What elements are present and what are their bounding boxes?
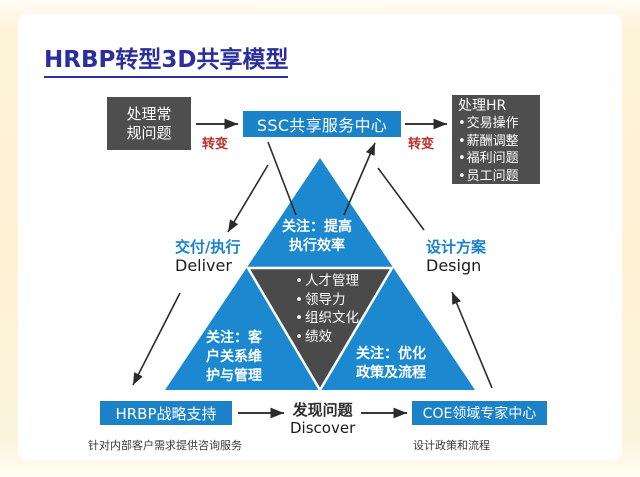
convert-label-left: 转变	[202, 133, 228, 152]
triangle-bl-line2: 户关系维	[206, 348, 262, 367]
coe-expert-center-box[interactable]: COE领域专家中心	[412, 401, 547, 425]
deliver-label-en: Deliver	[175, 256, 240, 275]
deliver-label: 交付/执行 Deliver	[175, 238, 240, 275]
discover-label: 发现问题 Discover	[290, 401, 355, 438]
list-item: 组织文化	[295, 309, 359, 328]
page-title: HRBP转型3D共享模型	[44, 40, 288, 78]
deliver-label-cn: 交付/执行	[175, 238, 240, 256]
triangle-top-text: 关注：提高 执行效率	[282, 218, 352, 256]
triangle-center-list: 人才管理 领导力 组织文化 绩效	[295, 272, 359, 346]
process-hr-box[interactable]: 处理HR 交易操作 薪酬调整 福利问题 员工问题	[452, 95, 540, 184]
triangle-top-line1: 关注：提高	[282, 218, 352, 237]
list-item: 交易操作	[458, 115, 536, 133]
list-item: 绩效	[295, 328, 359, 347]
arrow-ssc-to-deliver	[228, 165, 268, 232]
list-item: 领导力	[295, 291, 359, 310]
slide-canvas: HRBP转型3D共享模型 处理常 规问题 转变 SSC共享服务中心 转变 处理H…	[0, 0, 640, 477]
triangle-bl-line1: 关注：客	[206, 329, 262, 348]
triangle-bl-line3: 护与管理	[206, 367, 262, 386]
convert-label-right: 转变	[408, 133, 434, 152]
design-label-en: Design	[426, 256, 486, 275]
arrow-apex-to-ssc-left	[268, 142, 296, 215]
discover-label-en: Discover	[290, 419, 355, 438]
design-label-cn: 设计方案	[426, 238, 486, 256]
triangle-bottom-left-text: 关注：客 户关系维 护与管理	[206, 329, 262, 386]
process-hr-list: 交易操作 薪酬调整 福利问题 员工问题	[458, 115, 536, 185]
triangle-br-line2: 政策及流程	[356, 364, 426, 383]
arrow-apex-to-ssc-right	[344, 143, 375, 215]
list-item: 员工问题	[458, 168, 536, 186]
coe-caption: 设计政策和流程	[413, 437, 490, 453]
triangle-top-line2: 执行效率	[282, 237, 352, 256]
triangle-bottom-right-text: 关注：优化 政策及流程	[356, 345, 426, 383]
list-item: 薪酬调整	[458, 133, 536, 151]
arrow-to-hrbp-box	[133, 293, 180, 385]
hrbp-strategy-support-box[interactable]: HRBP战略支持	[100, 401, 232, 425]
arrow-ssc-to-design	[378, 168, 424, 230]
design-label: 设计方案 Design	[426, 238, 486, 275]
process-routine-line2: 规问题	[126, 124, 171, 143]
list-item: 人才管理	[295, 272, 359, 291]
hrbp-caption: 针对内部客户需求提供咨询服务	[88, 437, 242, 453]
process-hr-heading: 处理HR	[458, 97, 536, 115]
process-routine-issues-box[interactable]: 处理常 规问题	[107, 97, 191, 150]
ssc-shared-service-center-box[interactable]: SSC共享服务中心	[243, 111, 401, 137]
discover-label-cn: 发现问题	[290, 401, 355, 419]
list-item: 福利问题	[458, 150, 536, 168]
triangle-br-line1: 关注：优化	[356, 345, 426, 364]
process-routine-line1: 处理常	[126, 105, 171, 124]
